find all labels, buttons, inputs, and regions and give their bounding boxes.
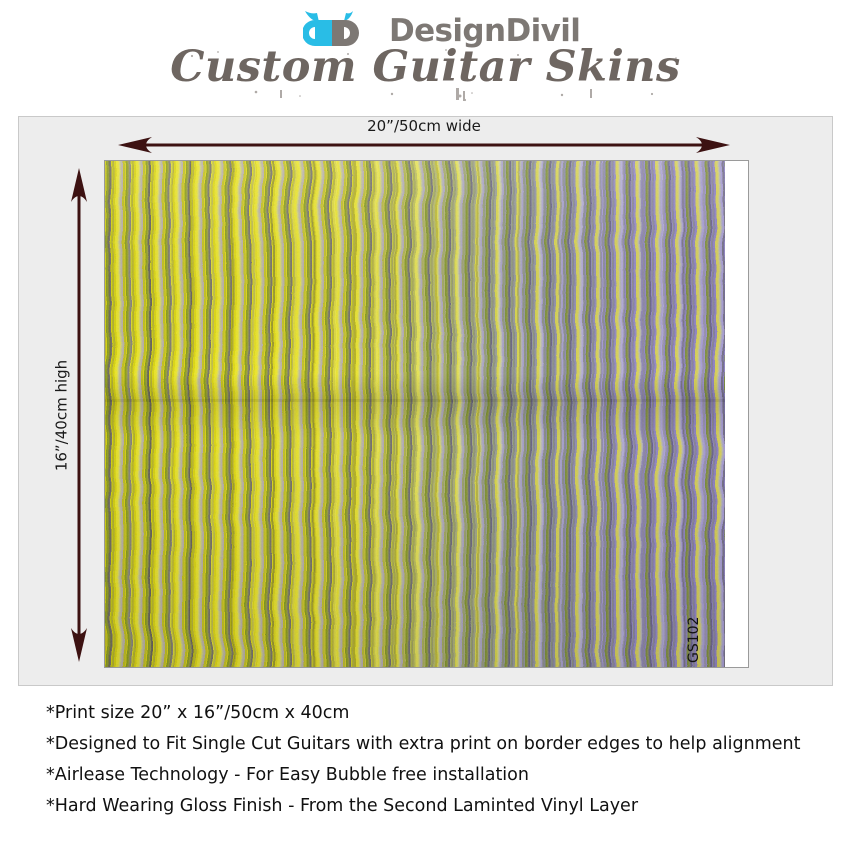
width-dimension-label: 20”/50cm wide [118,119,730,134]
guitar-skin-artwork-image [105,161,725,667]
artwork-preview[interactable]: GS102 [104,160,749,668]
sku-strip: GS102 [725,161,748,667]
height-dimension-arrow-icon [70,168,88,662]
page-title: Custom Guitar Skins [0,46,851,89]
field-rows-illustration [105,161,725,667]
width-dimension-arrow-icon [118,136,730,154]
feature-list: *Print size 20” x 16”/50cm x 40cm *Desig… [46,698,836,822]
feature-item: *Print size 20” x 16”/50cm x 40cm [46,698,836,729]
brand-header: DesignDivil Custom Guitar Skins [0,0,851,108]
feature-item: *Hard Wearing Gloss Finish - From the Se… [46,791,836,822]
product-sku-code: GS102 [687,591,701,663]
height-dimension-label: 16”/40cm high [55,336,70,496]
feature-item: *Designed to Fit Single Cut Guitars with… [46,729,836,760]
feature-item: *Airlease Technology - For Easy Bubble f… [46,760,836,791]
